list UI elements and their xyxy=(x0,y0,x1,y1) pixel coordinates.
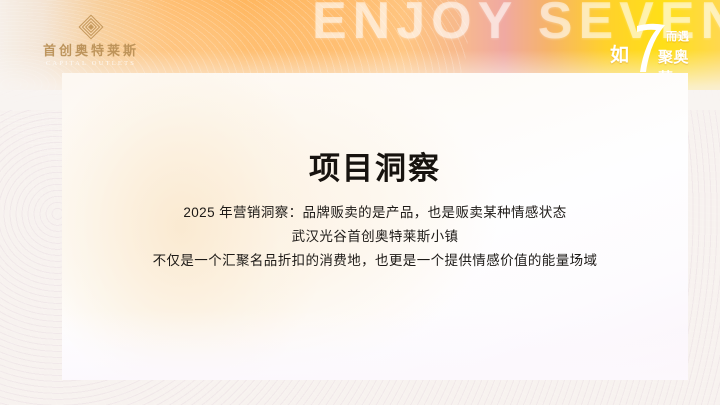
body-line-3: 不仅是一个汇聚名品折扣的消费地，也更是一个提供情感价值的能量场域 xyxy=(62,249,688,273)
content-card: 项目洞察 2025 年营销洞察：品牌贩卖的是产品，也是贩卖某种情感状态 武汉光谷… xyxy=(62,73,688,380)
card-content: 项目洞察 2025 年营销洞察：品牌贩卖的是产品，也是贩卖某种情感状态 武汉光谷… xyxy=(62,73,688,380)
body-text-block: 2025 年营销洞察：品牌贩卖的是产品，也是贩卖某种情感状态 武汉光谷首创奥特莱… xyxy=(62,201,688,273)
page-title: 项目洞察 xyxy=(62,143,688,188)
body-line-1: 2025 年营销洞察：品牌贩卖的是产品，也是贩卖某种情感状态 xyxy=(62,201,688,225)
presentation-slide: ENJOY SEVEN 首创奥特莱斯 CAPITAL OUTLETS 如 而遇 … xyxy=(0,0,720,405)
body-line-2: 武汉光谷首创奥特莱斯小镇 xyxy=(62,225,688,249)
